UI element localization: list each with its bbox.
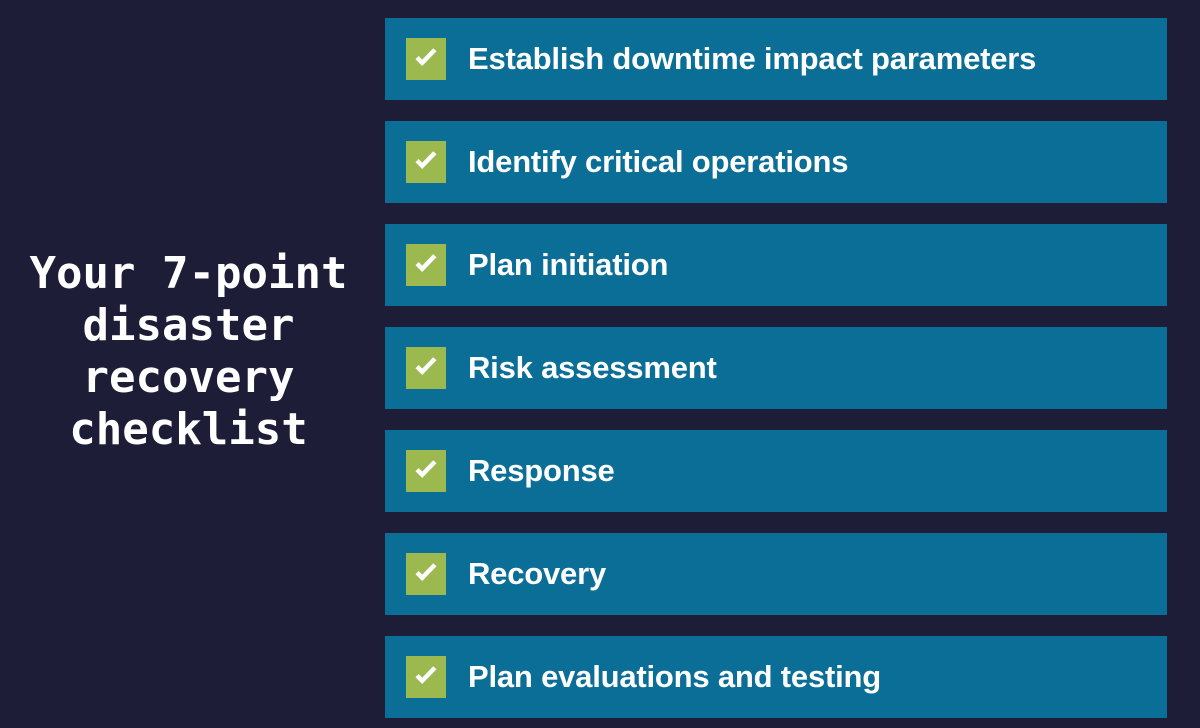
- checkbox-checked-4[interactable]: [406, 347, 446, 389]
- checkbox-checked-2[interactable]: [406, 141, 446, 183]
- checklist: Establish downtime impact parameters Ide…: [385, 18, 1167, 718]
- checklist-item-label: Response: [468, 454, 615, 488]
- checklist-item-7[interactable]: Plan evaluations and testing: [385, 636, 1167, 718]
- checklist-item-2[interactable]: Identify critical operations: [385, 121, 1167, 203]
- checkbox-checked-5[interactable]: [406, 450, 446, 492]
- page-title: Your 7-point disaster recovery checklist: [0, 248, 377, 456]
- checklist-item-label: Identify critical operations: [468, 145, 848, 179]
- checkmark-icon: [412, 354, 440, 382]
- checkmark-icon: [412, 148, 440, 176]
- checkbox-checked-3[interactable]: [406, 244, 446, 286]
- checklist-item-4[interactable]: Risk assessment: [385, 327, 1167, 409]
- checklist-slide: Your 7-point disaster recovery checklist…: [0, 0, 1200, 728]
- checklist-item-1[interactable]: Establish downtime impact parameters: [385, 18, 1167, 100]
- checklist-item-6[interactable]: Recovery: [385, 533, 1167, 615]
- checkmark-icon: [412, 45, 440, 73]
- checklist-item-label: Plan evaluations and testing: [468, 660, 881, 694]
- checklist-item-5[interactable]: Response: [385, 430, 1167, 512]
- checkmark-icon: [412, 457, 440, 485]
- checkmark-icon: [412, 251, 440, 279]
- checkbox-checked-1[interactable]: [406, 38, 446, 80]
- checklist-item-label: Plan initiation: [468, 248, 668, 282]
- checkbox-checked-7[interactable]: [406, 656, 446, 698]
- checklist-item-label: Establish downtime impact parameters: [468, 42, 1036, 76]
- checkmark-icon: [412, 560, 440, 588]
- checkmark-icon: [412, 663, 440, 691]
- checklist-item-3[interactable]: Plan initiation: [385, 224, 1167, 306]
- checklist-item-label: Risk assessment: [468, 351, 717, 385]
- checkbox-checked-6[interactable]: [406, 553, 446, 595]
- checklist-item-label: Recovery: [468, 557, 606, 591]
